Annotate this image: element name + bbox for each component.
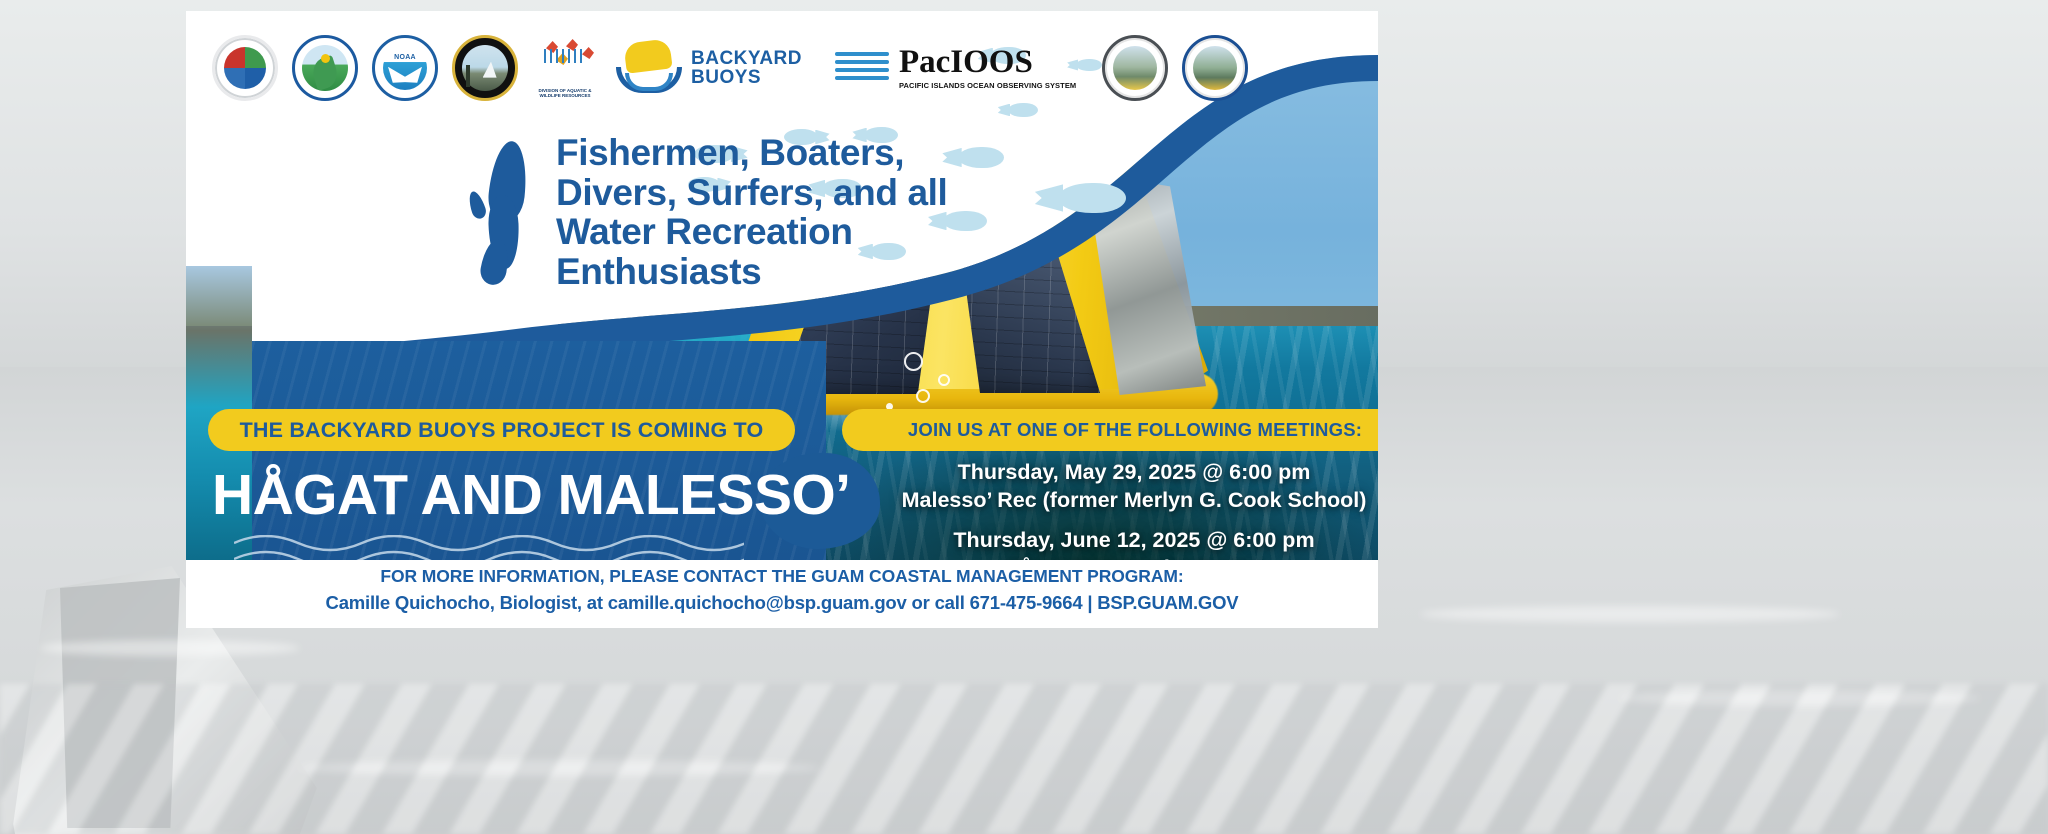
left-photo-strip-sky (186, 266, 252, 326)
pacioos-logo: PacIOOS PACIFIC ISLANDS OCEAN OBSERVING … (832, 46, 1076, 90)
bubble-icon (904, 352, 923, 371)
district-of-hagat-seal (1102, 35, 1168, 101)
backyard-buoys-wordmark-line1: BACKYARD (691, 49, 802, 68)
headline-line-4: Enthusiasts (556, 252, 1076, 292)
pacioos-wave-mark-icon (832, 47, 892, 89)
meeting-1-date: Thursday, May 29, 2025 @ 6:00 pm (836, 459, 1378, 487)
headline-line-2: Divers, Surfers, and all (556, 173, 1076, 213)
meeting-1-venue: Malesso’ Rec (former Merlyn G. Cook Scho… (836, 487, 1378, 515)
headline-line-3: Water Recreation (556, 212, 1076, 252)
guam-coastal-management-program-seal (292, 35, 358, 101)
backyard-buoys-logo: BACKYARD BUOYS (616, 39, 802, 97)
background-streak (1420, 606, 1840, 622)
pacioos-subtitle: PACIFIC ISLANDS OCEAN OBSERVING SYSTEM (899, 81, 1076, 90)
bubble-icon (938, 374, 950, 386)
noaa-label: NOAA (375, 54, 435, 61)
government-of-guam-seal (452, 35, 518, 101)
wave-lines-decoration (234, 535, 744, 560)
footer-contact-details: Camille Quichocho, Biologist, at camille… (186, 592, 1378, 614)
meeting-details: Thursday, May 29, 2025 @ 6:00 pm Malesso… (836, 459, 1378, 560)
meeting-2-date: Thursday, June 12, 2025 @ 6:00 pm (836, 527, 1378, 555)
backyard-buoys-mark-icon (616, 39, 682, 97)
headline: Fishermen, Boaters, Divers, Surfers, and… (556, 133, 1076, 291)
meeting-2-venue: Hågat Community Center (836, 555, 1378, 560)
municipality-of-malesso-seal (1182, 35, 1248, 101)
backyard-buoys-flyer: NOAA DIVISION OF AQUATIC & WILDLIFE RESO… (186, 11, 1378, 560)
headline-line-1: Fishermen, Boaters, (556, 133, 1076, 173)
background-foam (0, 684, 2048, 834)
background-streak (40, 640, 300, 656)
dawr-caption: DIVISION OF AQUATIC & WILDLIFE RESOURCES (532, 88, 598, 99)
division-of-aquatic-and-wildlife-resources-logo: DIVISION OF AQUATIC & WILDLIFE RESOURCES (532, 35, 598, 101)
bubble-icon (916, 389, 930, 403)
noaa-seal: NOAA (372, 35, 438, 101)
backyard-buoys-wordmark-line2: BUOYS (691, 68, 802, 87)
flyer-footer: FOR MORE INFORMATION, PLEASE CONTACT THE… (186, 560, 1378, 628)
page-title: HÅGAT AND MALESSO’ (212, 455, 852, 535)
footer-contact-heading: FOR MORE INFORMATION, PLEASE CONTACT THE… (186, 566, 1378, 587)
project-coming-to-banner: THE BACKYARD BUOYS PROJECT IS COMING TO (208, 409, 795, 451)
partner-logos-row: NOAA DIVISION OF AQUATIC & WILDLIFE RESO… (212, 29, 1248, 107)
join-us-banner: JOIN US AT ONE OF THE FOLLOWING MEETINGS… (842, 409, 1378, 451)
pacioos-wordmark: PacIOOS (899, 46, 1076, 79)
bureau-of-statistics-and-plans-seal (212, 35, 278, 101)
